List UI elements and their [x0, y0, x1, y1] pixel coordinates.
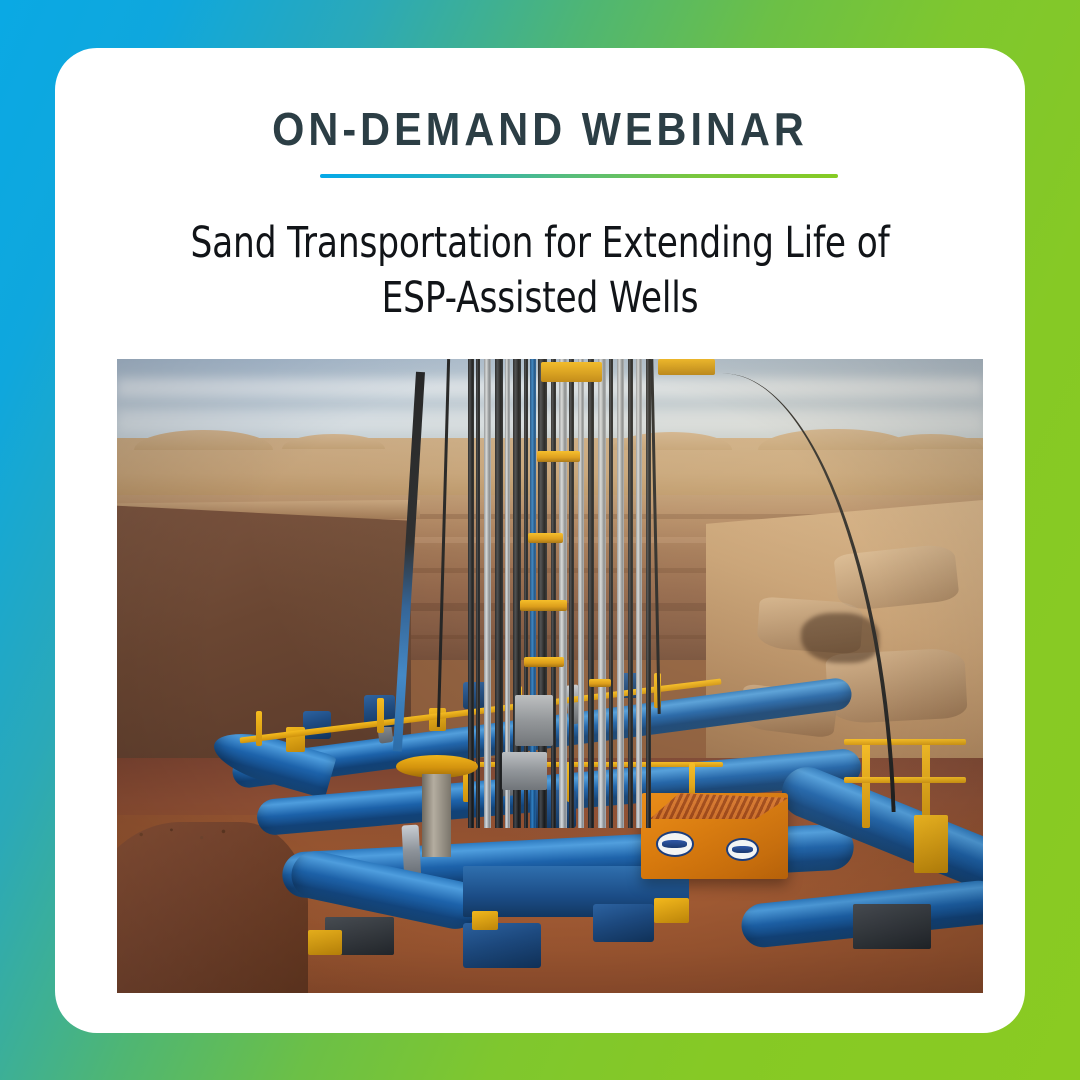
webinar-poster: ON-DEMAND WEBINAR Sand Transportation fo… — [0, 0, 1080, 1080]
mast-steel-housing-2 — [502, 752, 547, 790]
drill-pipe-10 — [551, 359, 556, 828]
ground-unit-5 — [593, 904, 654, 942]
drill-pipe-13 — [578, 359, 584, 828]
drill-pipe-20 — [646, 359, 651, 828]
drill-pipe-11 — [559, 359, 567, 828]
mast-collar-1 — [537, 451, 580, 462]
hero-photo — [117, 359, 983, 993]
drill-pipe-18 — [628, 359, 633, 828]
crown-block-upper — [541, 362, 602, 382]
drill-pipe-16 — [609, 359, 613, 828]
drill-pipe-3 — [484, 359, 491, 828]
valve-assembly-1 — [303, 711, 331, 740]
canyon-left-block — [117, 505, 411, 771]
drill-pipe-1 — [468, 359, 474, 828]
drill-pipe-2 — [476, 359, 481, 828]
mast-steel-housing-1 — [515, 695, 553, 746]
photo-scene — [117, 359, 983, 993]
mast-collar-3 — [520, 600, 568, 611]
crane-boom-stem — [422, 774, 451, 856]
mast-collar-4 — [524, 657, 564, 667]
railing-back-post-1 — [256, 711, 263, 746]
rubble-field — [117, 819, 238, 851]
gradient-divider — [320, 174, 838, 178]
ground-unit-7 — [853, 904, 931, 948]
content-card: ON-DEMAND WEBINAR Sand Transportation fo… — [55, 48, 1025, 1033]
ground-unit-4 — [472, 911, 498, 930]
page-title-line-1: Sand Transportation for Extending Life o… — [184, 216, 896, 271]
mast-collar-2 — [528, 533, 563, 543]
crown-block-right — [658, 359, 714, 375]
page-title: Sand Transportation for Extending Life o… — [184, 216, 896, 326]
drill-pipe-14 — [588, 359, 594, 828]
drilling-rig-mast — [463, 359, 671, 828]
ground-unit-2 — [308, 930, 343, 955]
eyebrow-label: ON-DEMAND WEBINAR — [104, 106, 977, 152]
drill-pipe-12 — [569, 359, 574, 828]
ground-unit-3 — [463, 923, 541, 967]
drill-pipe-19 — [636, 359, 642, 828]
drill-pipe-15 — [598, 359, 605, 828]
mast-collar-5 — [589, 679, 612, 687]
skid-logo-right — [726, 838, 758, 861]
ground-unit-8 — [914, 815, 949, 872]
railing-back-post-2 — [377, 698, 384, 733]
drill-pipe-17 — [617, 359, 624, 828]
page-title-line-2: ESP-Assisted Wells — [184, 271, 896, 326]
skid-logo-left — [656, 831, 694, 857]
ground-unit-6 — [654, 898, 689, 923]
